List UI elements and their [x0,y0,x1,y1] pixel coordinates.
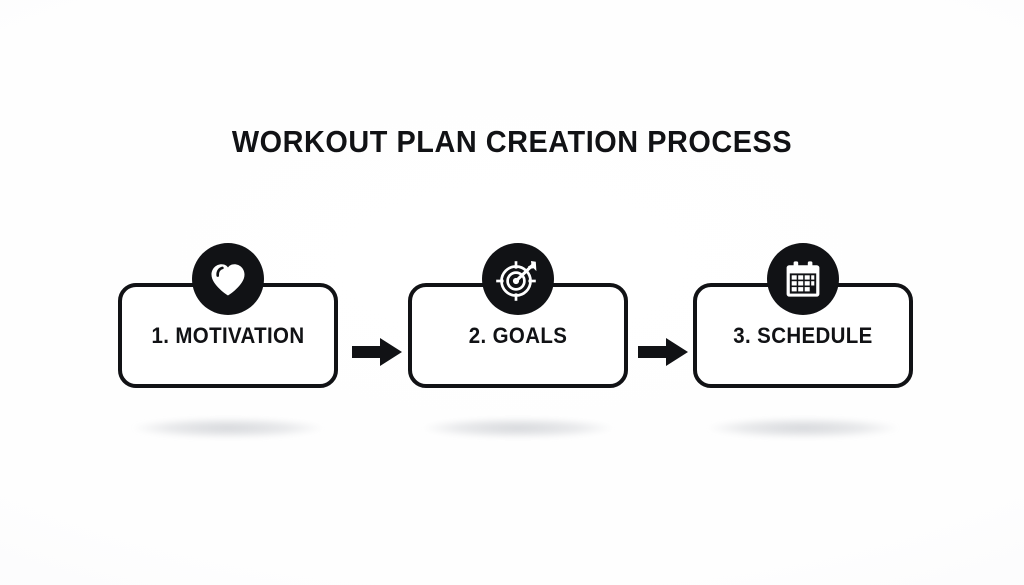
heart-icon [192,243,264,315]
calendar-icon [767,243,839,315]
arrow-right-icon [352,335,402,369]
card-shadow [707,418,899,438]
process-flow: 1. MOTIVATION 2. GOALS [0,243,1024,453]
process-step-schedule[interactable]: 3. SCHEDULE [693,243,913,393]
diagram-canvas: WORKOUT PLAN CREATION PROCESS 1. MOTIVAT… [0,0,1024,585]
arrow-right-icon [638,335,688,369]
step-label: 3. SCHEDULE [704,323,901,349]
step-label: 2. GOALS [419,323,616,349]
card-shadow [132,418,324,438]
page-title: WORKOUT PLAN CREATION PROCESS [36,124,988,160]
process-step-motivation[interactable]: 1. MOTIVATION [118,243,338,393]
step-label: 1. MOTIVATION [129,323,326,349]
card-shadow [422,418,614,438]
target-arrow-icon [482,243,554,315]
process-step-goals[interactable]: 2. GOALS [408,243,628,393]
